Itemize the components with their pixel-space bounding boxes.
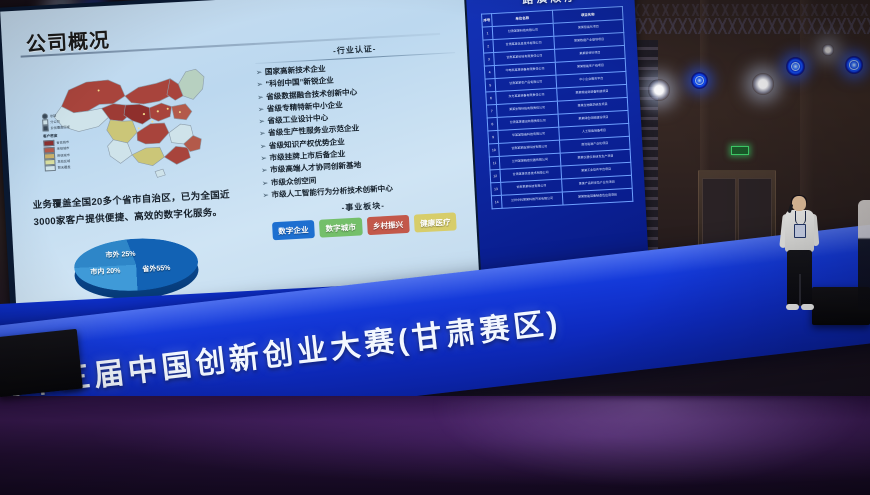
spotlight-blue-9 [786, 57, 805, 76]
lanyard [795, 211, 806, 225]
presenter-leg-split [799, 274, 801, 306]
presentation-slide: 公司概况 [0, 0, 479, 307]
table-cell-unit: 兰州中科某某科技开发有限公司 [501, 192, 563, 208]
spotlight-white-8 [648, 79, 670, 101]
china-map: 总部 分公司 业务覆盖区域 客户密度 省会城市 地级城市 县级城市 其他区域 暂… [37, 57, 233, 187]
company-blurb: 业务覆盖全国20多个省市自治区，已为全国近3000家客户提供便捷、高效的数字化服… [32, 187, 243, 232]
certification-item-label: 省级工业设计中心 [267, 113, 328, 125]
pie-slice-label-shiwai: 市外 25% [105, 249, 135, 261]
roadshow-panel: 路演顺序 序号单位名称项目名称 1甘肃某某科技有限公司某某智能化项目2甘肃某某信… [465, 0, 649, 287]
certification-item-label: 市级众创空间 [271, 175, 317, 186]
certification-item-label: “科创中国”新锐企业 [265, 76, 334, 89]
lighting-truss-upper [600, 4, 870, 16]
screenshot-root: 公司概况 [0, 0, 870, 495]
map-legend: 总部 分公司 业务覆盖区域 客户密度 省会城市 地级城市 县级城市 其他区域 暂… [42, 111, 89, 171]
spotlight-blue-8 [691, 72, 708, 89]
stage-monitor-left [0, 329, 83, 397]
certification-block: -行业认证- ➢国家高新技术企业➢“科创中国”新锐企业➢省级数据融合技术创新中心… [255, 39, 465, 241]
pie-slice-label-shinei: 市内 20% [90, 266, 120, 278]
spotlight-blue-10 [845, 56, 863, 74]
pie-slice-label-shengwai: 省外55% [142, 263, 171, 275]
sector-chip-1[interactable]: 数字企业 [272, 220, 315, 240]
sector-chip-2[interactable]: 数字城市 [319, 218, 362, 238]
certification-list: ➢国家高新技术企业➢“科创中国”新锐企业➢省级数据融合技术创新中心➢省级专精特新… [256, 56, 463, 202]
certification-item-label: 国家高新技术企业 [265, 64, 326, 76]
presenter-shoe-left [786, 304, 799, 310]
badge [794, 224, 806, 238]
certification-item-label: 省级专精特新中小企业 [267, 100, 343, 113]
sector-chip-4[interactable]: 健康医疗 [414, 213, 457, 233]
table-body: 1甘肃某某科技有限公司某某智能化项目2甘肃某某信息技术有限公司某某数据产业基地项… [482, 19, 633, 208]
second-person [858, 200, 870, 310]
table-cell-project: 某某智能装备制造及应用项目 [562, 188, 633, 205]
roadshow-table: 序号单位名称项目名称 1甘肃某某科技有限公司某某智能化项目2甘肃某某信息技术有限… [481, 6, 633, 209]
legend-marker-item: 业务覆盖区域 [42, 123, 86, 132]
exit-sign [731, 146, 749, 155]
presenter-head [792, 196, 806, 211]
spotlight-white-9 [752, 73, 774, 95]
sector-chip-3[interactable]: 乡村振兴 [366, 215, 409, 235]
sector-chip-row: 数字企业数字城市乡村振兴健康医疗 [264, 212, 465, 241]
coverage-pie-chart: 省外55% 市外 25% 市内 20% [64, 229, 207, 302]
presenter-shoe-right [801, 304, 814, 310]
presenter [780, 196, 820, 318]
spotlight-white-10 [822, 44, 834, 56]
floor-light-sheen [430, 398, 870, 488]
